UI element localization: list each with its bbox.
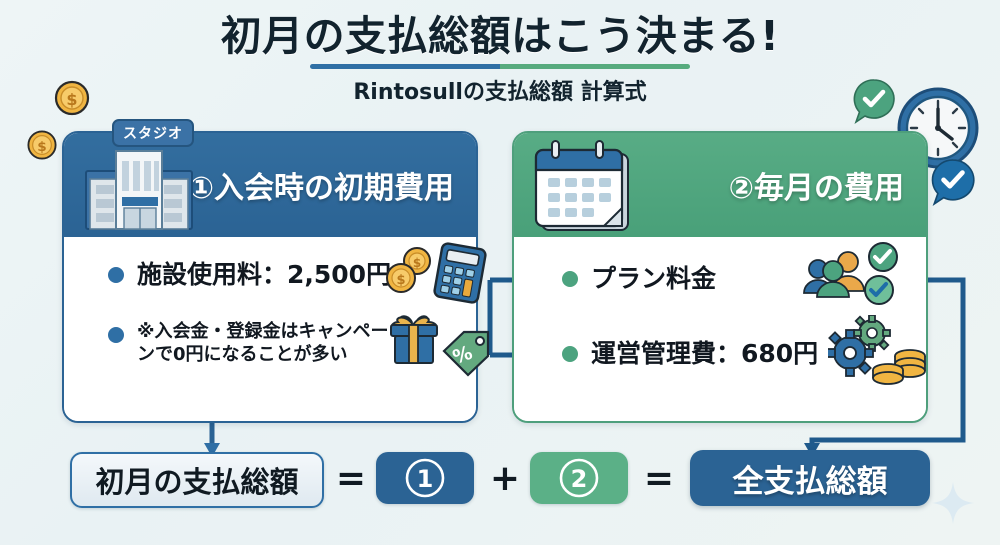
title-block: 初月の支払総額はこう決まる! Rintosullの支払総額 計算式 bbox=[0, 14, 1000, 106]
first-month-total-label: 初月の支払総額 bbox=[95, 459, 298, 501]
first-month-total-box: 初月の支払総額 bbox=[70, 452, 324, 508]
svg-text:$: $ bbox=[396, 273, 405, 288]
bullet-dot bbox=[562, 271, 578, 287]
studio-building-icon bbox=[80, 133, 198, 233]
svg-text:$: $ bbox=[37, 139, 46, 155]
page-subtitle: Rintosullの支払総額 計算式 bbox=[0, 74, 1000, 106]
card-monthly-cost-body: プラン料金 運営管理費：680円 bbox=[514, 237, 926, 421]
list-item: 施設使用料：2,500円 bbox=[108, 261, 391, 290]
studio-sign-label: スタジオ bbox=[112, 119, 194, 147]
infographic-canvas: $ $ 初月の支払総額はこう決まる! Rintosullの支払総額 計算式 bbox=[0, 0, 1000, 545]
calculator-icon bbox=[432, 242, 490, 304]
list-item: ※入会金・登録金はキャンペーンで0円になることが多い bbox=[108, 321, 395, 366]
circled-two-icon: 2 bbox=[556, 455, 602, 501]
circled-one-icon: 1 bbox=[402, 455, 448, 501]
svg-text:$: $ bbox=[413, 256, 421, 270]
svg-text:1: 1 bbox=[417, 465, 434, 493]
grand-total-box: 全支払総額 bbox=[690, 450, 930, 506]
term-badge-2: 2 bbox=[530, 452, 628, 504]
term-badge-1: 1 bbox=[376, 452, 474, 504]
equals-sign-1: = bbox=[332, 452, 370, 504]
plus-sign: + bbox=[486, 452, 524, 504]
calendar-icon bbox=[532, 140, 638, 234]
card-monthly-cost-title: ②毎月の費用 bbox=[729, 163, 926, 207]
bullet-dot bbox=[108, 327, 124, 343]
coin-stack-icon bbox=[870, 342, 932, 392]
bullet-dot bbox=[108, 267, 124, 283]
list-item-label: ※入会金・登録金はキャンペーンで0円になることが多い bbox=[137, 321, 395, 366]
list-item-label: プラン料金 bbox=[591, 265, 716, 294]
check-circle-icon bbox=[866, 240, 900, 274]
coins-icon: $ $ bbox=[381, 245, 439, 297]
list-item-label: 施設使用料：2,500円 bbox=[137, 261, 391, 290]
check-bubble-blue-icon bbox=[930, 158, 976, 206]
card-initial-cost-title: ①入会時の初期費用 bbox=[189, 163, 476, 207]
card-initial-cost-body: 施設使用料：2,500円 ※入会金・登録金はキャンペーンで0円になることが多い … bbox=[64, 237, 476, 421]
coin-dollar-icon: $ bbox=[25, 128, 59, 162]
bullet-dot bbox=[562, 346, 578, 362]
list-item: プラン料金 bbox=[562, 265, 716, 294]
check-circle-icon bbox=[862, 273, 896, 307]
list-item: 運営管理費：680円 bbox=[562, 340, 818, 369]
title-underline bbox=[310, 64, 690, 69]
grand-total-label: 全支払総額 bbox=[733, 456, 888, 501]
sparkle-icon bbox=[928, 478, 978, 528]
list-item-label: 運営管理費：680円 bbox=[591, 340, 818, 369]
page-title: 初月の支払総額はこう決まる! bbox=[0, 14, 1000, 58]
svg-text:2: 2 bbox=[571, 465, 588, 493]
discount-tag-icon: % bbox=[438, 329, 494, 381]
equals-sign-2: = bbox=[640, 452, 678, 504]
